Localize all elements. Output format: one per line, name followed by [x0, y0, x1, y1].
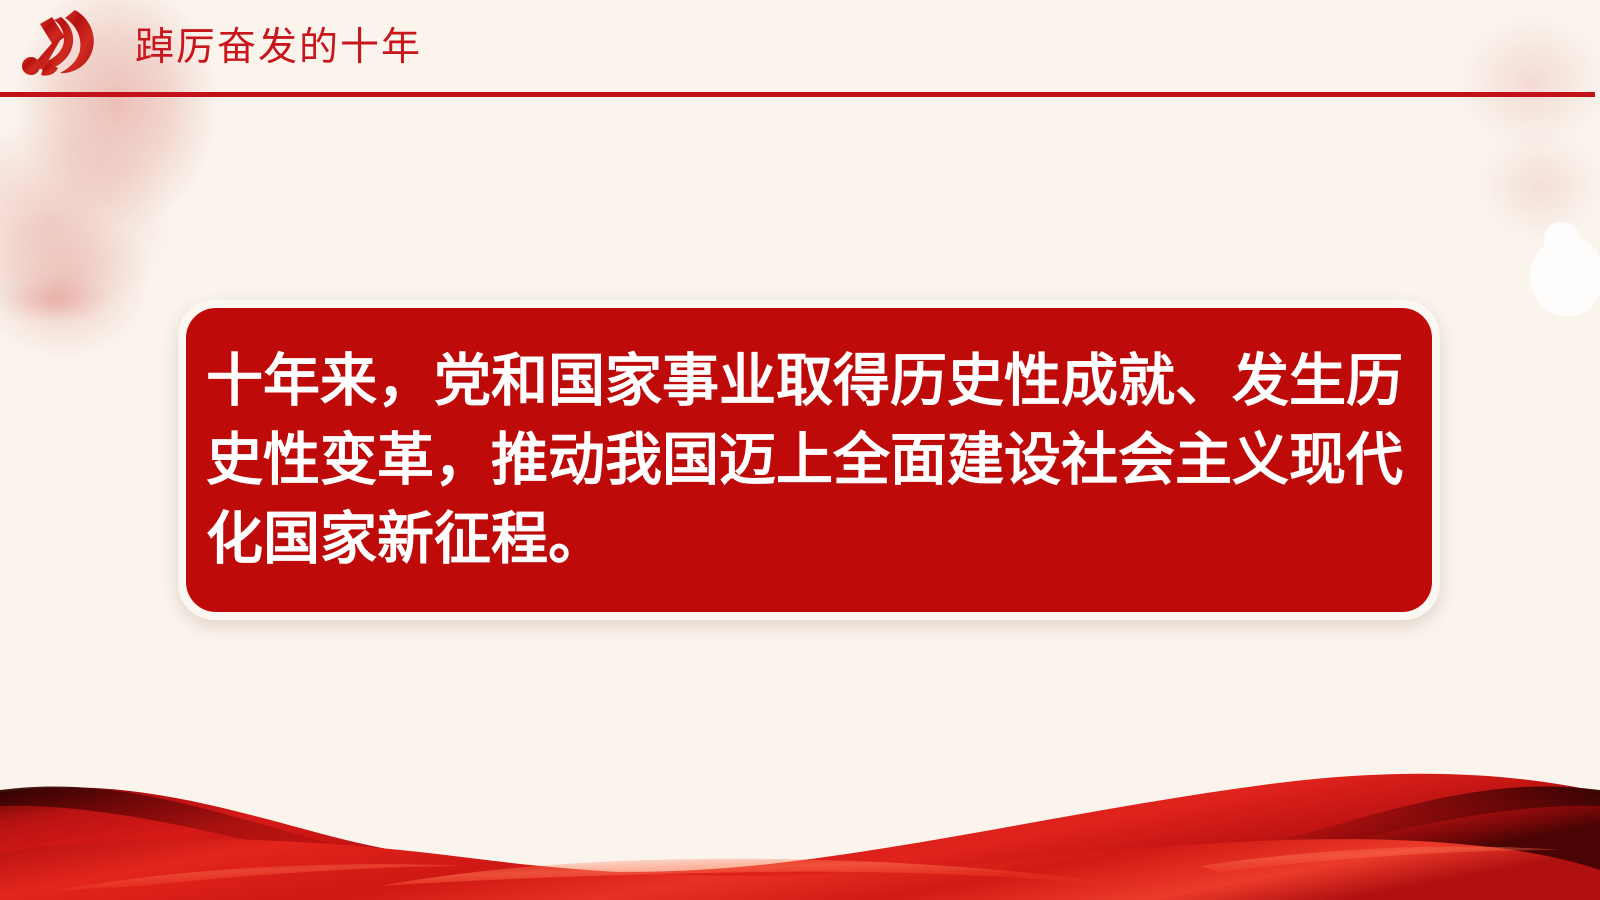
- cpc-hammer-sickle-emblem-icon: [13, 4, 109, 88]
- header-divider: [0, 92, 1595, 97]
- red-silk-ribbon-icon: [0, 740, 1600, 900]
- quote-card-body: 十年来，党和国家事业取得历史性成就、发生历史性变革，推动我国迈上全面建设社会主义…: [186, 308, 1432, 612]
- page-title: 踔厉奋发的十年: [135, 20, 422, 76]
- slide-canvas: 踔厉奋发的十年 十年来，党和国家事业取得历史性成就、发生历史性变革，推动我国迈上…: [0, 0, 1600, 900]
- watercolor-wash-right-mid-icon: [1420, 95, 1600, 295]
- watercolor-wash-left-lower-icon: [0, 180, 180, 410]
- cloud-shape-icon: [1530, 238, 1600, 316]
- quote-card: 十年来，党和国家事业取得历史性成就、发生历史性变革，推动我国迈上全面建设社会主义…: [178, 300, 1440, 620]
- watercolor-wash-left-dot-icon: [0, 255, 140, 345]
- quote-text: 十年来，党和国家事业取得历史性成就、发生历史性变革，推动我国迈上全面建设社会主义…: [206, 342, 1418, 579]
- slide-header: 踔厉奋发的十年: [0, 0, 1600, 96]
